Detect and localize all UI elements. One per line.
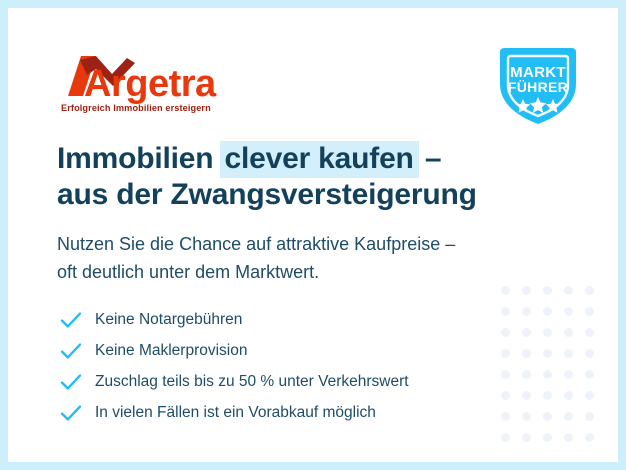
grid-dot (543, 433, 552, 442)
marktfuehrer-badge: MARKT FÜHRER (492, 40, 584, 128)
grid-dot (501, 328, 510, 337)
grid-dot (501, 391, 510, 400)
grid-dot (501, 349, 510, 358)
grid-dot (564, 307, 573, 316)
check-icon (58, 400, 84, 426)
grid-dot (543, 328, 552, 337)
checklist-item-label: Keine Notargebühren (95, 310, 242, 330)
list-item: Keine Maklerprovision (58, 335, 409, 366)
checklist-item-label: In vielen Fällen ist ein Vorabkauf mögli… (95, 403, 376, 423)
grid-dot (522, 412, 531, 421)
grid-dot (543, 391, 552, 400)
grid-dot (543, 370, 552, 379)
checklist-item-label: Keine Maklerprovision (95, 341, 248, 361)
grid-dot (543, 412, 552, 421)
grid-dot (522, 349, 531, 358)
grid-dot (564, 349, 573, 358)
list-item: Keine Notargebühren (58, 304, 409, 335)
grid-dot (564, 328, 573, 337)
grid-dot (501, 370, 510, 379)
headline-line-1: Immobilien clever kaufen – (57, 141, 477, 177)
badge-line2: FÜHRER (508, 79, 568, 95)
argetra-logo: Argetra Erfolgreich Immobilien ersteiger… (55, 48, 265, 120)
dot-grid-decoration (495, 280, 600, 448)
grid-dot (501, 286, 510, 295)
grid-dot (543, 286, 552, 295)
grid-dot (564, 412, 573, 421)
headline-line1-after: – (417, 142, 442, 175)
grid-dot (501, 433, 510, 442)
headline-line1-before: Immobilien (57, 142, 222, 175)
subheading-line-1: Nutzen Sie die Chance auf attraktive Kau… (57, 230, 455, 258)
grid-dot (522, 328, 531, 337)
grid-dot (585, 391, 594, 400)
grid-dot (585, 412, 594, 421)
grid-dot (585, 286, 594, 295)
grid-dot (522, 307, 531, 316)
subheading: Nutzen Sie die Chance auf attraktive Kau… (57, 230, 455, 286)
grid-dot (543, 349, 552, 358)
headline-highlight: clever kaufen (220, 141, 419, 178)
checklist-item-label: Zuschlag teils bis zu 50 % unter Verkehr… (95, 372, 409, 392)
promo-card: Argetra Erfolgreich Immobilien ersteiger… (8, 8, 618, 462)
grid-dot (522, 286, 531, 295)
subheading-line-2: oft deutlich unter dem Marktwert. (57, 258, 455, 286)
logo-tagline: Erfolgreich Immobilien ersteigern (61, 103, 211, 113)
grid-dot (564, 370, 573, 379)
grid-dot (522, 391, 531, 400)
grid-dot (522, 433, 531, 442)
headline-line-2: aus der Zwangsversteigerung (57, 177, 477, 213)
grid-dot (585, 433, 594, 442)
grid-dot (501, 307, 510, 316)
check-icon (58, 369, 84, 395)
grid-dot (564, 286, 573, 295)
list-item: In vielen Fällen ist ein Vorabkauf mögli… (58, 397, 409, 428)
check-icon (58, 307, 84, 333)
grid-dot (522, 370, 531, 379)
grid-dot (585, 370, 594, 379)
grid-dot (501, 412, 510, 421)
grid-dot (543, 307, 552, 316)
page-border: Argetra Erfolgreich Immobilien ersteiger… (0, 0, 626, 470)
logo-wordmark: Argetra (84, 63, 217, 105)
grid-dot (564, 433, 573, 442)
grid-dot (585, 349, 594, 358)
list-item: Zuschlag teils bis zu 50 % unter Verkehr… (58, 366, 409, 397)
benefits-checklist: Keine NotargebührenKeine Maklerprovision… (58, 304, 409, 428)
grid-dot (585, 328, 594, 337)
grid-dot (564, 391, 573, 400)
grid-dot (585, 307, 594, 316)
page-title: Immobilien clever kaufen – aus der Zwang… (57, 141, 477, 213)
check-icon (58, 338, 84, 364)
